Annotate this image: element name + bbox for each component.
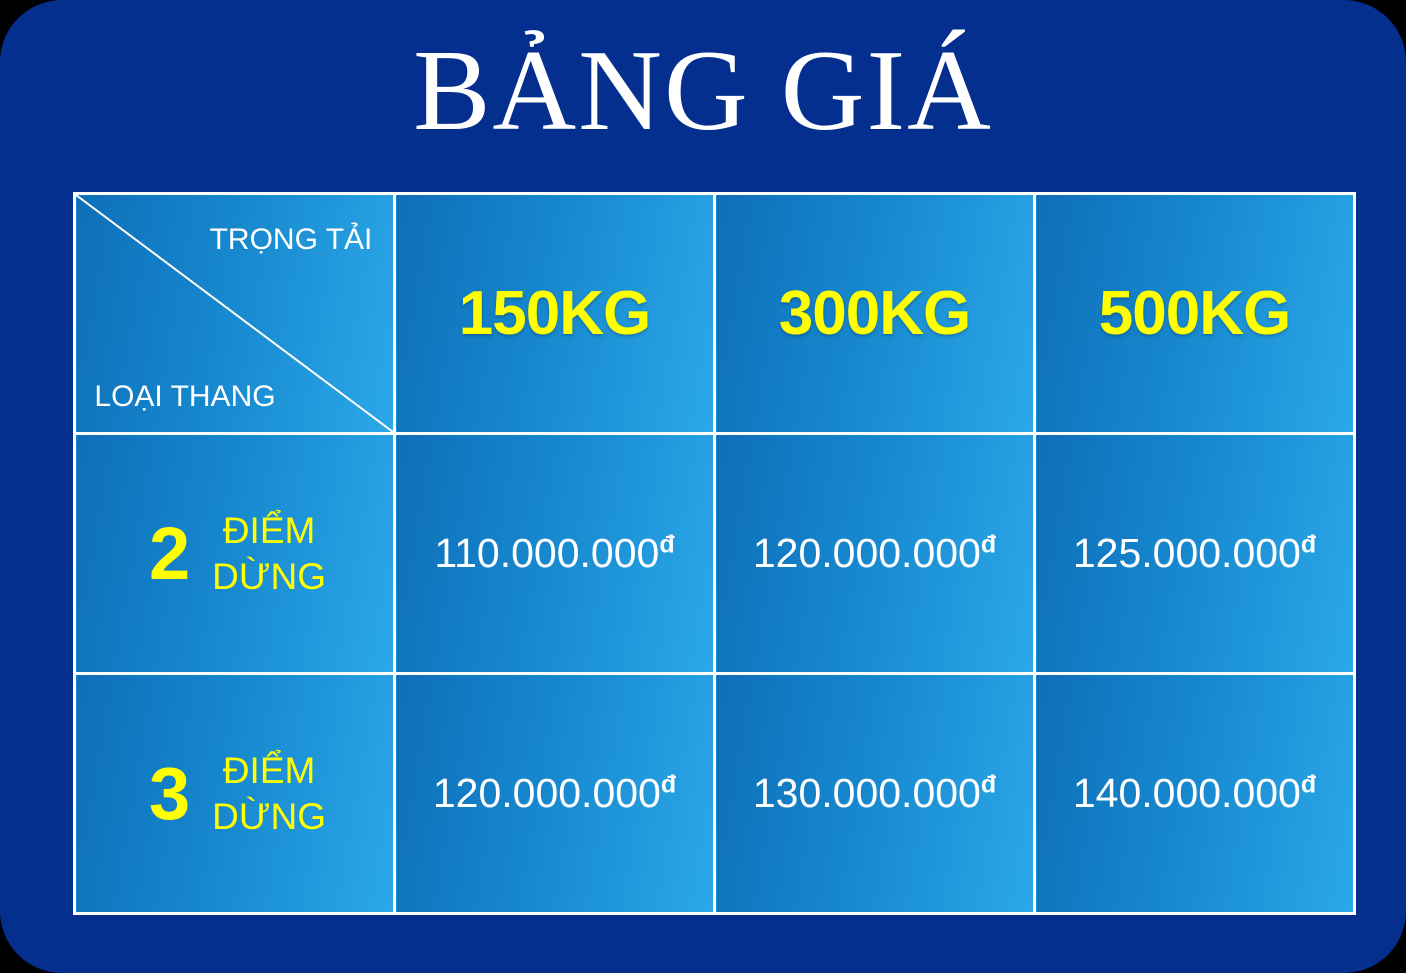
column-header-500kg: 500KG (1035, 194, 1355, 434)
corner-header-cell: TRỌNG TẢI LOẠI THANG (75, 194, 395, 434)
column-header-label: 300KG (779, 279, 970, 348)
row-header-3-stops: 3 ĐIỂM DỪNG (75, 674, 395, 914)
stop-count: 2 (149, 517, 190, 591)
price-amount: 120.000.000 (433, 770, 661, 816)
currency-symbol: đ (659, 531, 674, 559)
stop-label: ĐIỂM DỪNG (212, 748, 326, 838)
currency-symbol: đ (981, 531, 996, 559)
price-table: TRỌNG TẢI LOẠI THANG 150KG 300KG 500KG 2 (73, 192, 1356, 915)
price-amount: 125.000.000 (1073, 530, 1301, 576)
currency-symbol: đ (981, 771, 996, 799)
price-list-poster: BẢNG GIÁ TRỌNG TẢI LOẠI THANG 150KG 300K… (0, 0, 1406, 973)
currency-symbol: đ (1301, 531, 1316, 559)
price-amount: 130.000.000 (753, 770, 981, 816)
stop-label: ĐIỂM DỪNG (212, 508, 326, 598)
table-row: 3 ĐIỂM DỪNG 120.000.000đ 130.000.000đ (75, 674, 1355, 914)
elevator-type-axis-label: LOẠI THANG (90, 378, 280, 416)
price-amount: 110.000.000 (434, 530, 659, 576)
stop-count: 3 (149, 757, 190, 831)
price-cell-2stops-300kg: 120.000.000đ (715, 434, 1035, 674)
price-amount: 120.000.000 (753, 530, 981, 576)
price-cell-2stops-500kg: 125.000.000đ (1035, 434, 1355, 674)
price-cell-3stops-300kg: 130.000.000đ (715, 674, 1035, 914)
column-header-300kg: 300KG (715, 194, 1035, 434)
page-title: BẢNG GIÁ (0, 28, 1406, 156)
price-cell-2stops-150kg: 110.000.000đ (395, 434, 715, 674)
row-header-2-stops: 2 ĐIỂM DỪNG (75, 434, 395, 674)
column-header-label: 150KG (459, 279, 650, 348)
table-header-row: TRỌNG TẢI LOẠI THANG 150KG 300KG 500KG (75, 194, 1355, 434)
column-header-150kg: 150KG (395, 194, 715, 434)
currency-symbol: đ (1301, 771, 1316, 799)
price-amount: 140.000.000 (1073, 770, 1301, 816)
price-cell-3stops-500kg: 140.000.000đ (1035, 674, 1355, 914)
column-header-label: 500KG (1099, 279, 1290, 348)
table-row: 2 ĐIỂM DỪNG 110.000.000đ 120.000.000đ (75, 434, 1355, 674)
price-cell-3stops-150kg: 120.000.000đ (395, 674, 715, 914)
capacity-axis-label: TRỌNG TẢI (201, 221, 381, 259)
currency-symbol: đ (661, 771, 676, 799)
